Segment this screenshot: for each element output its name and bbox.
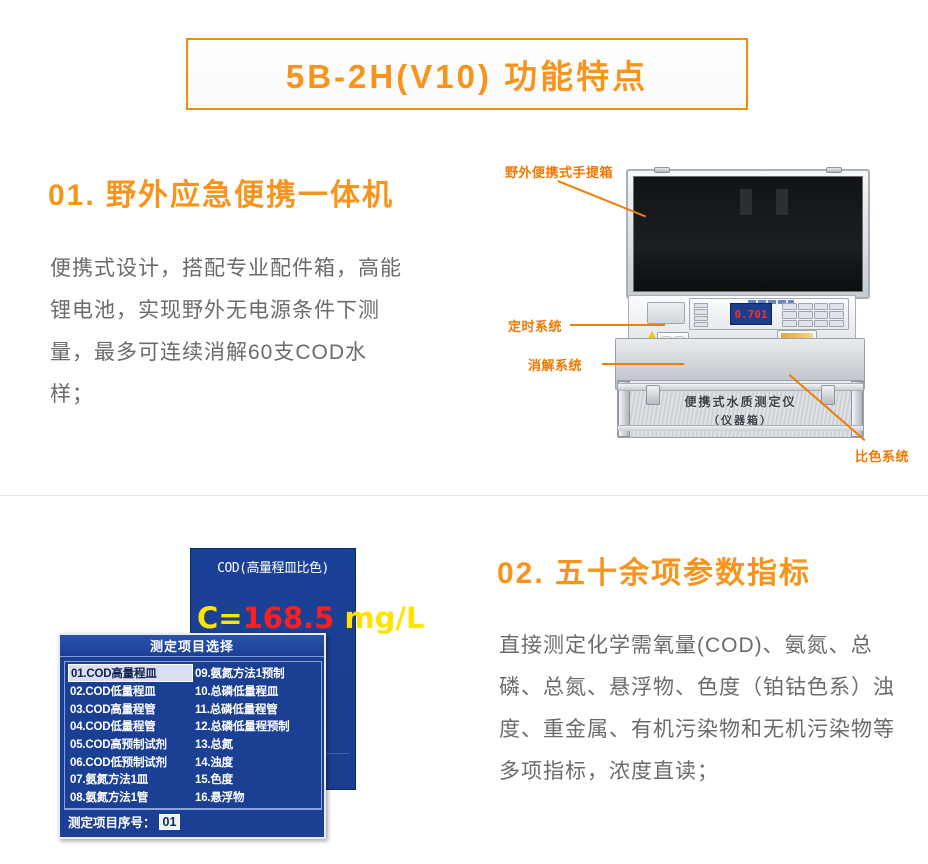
lcd-title: COD(高量程皿比色) [191, 557, 355, 576]
menu-item[interactable]: 11.总磷低量程管 [193, 700, 318, 718]
lid-foam-pad [740, 189, 752, 215]
control-panel: 0.701 [689, 298, 849, 330]
menu-item[interactable]: 13.总氮 [193, 735, 318, 753]
menu-item[interactable]: 07.氨氮方法1皿 [68, 771, 193, 789]
menu-item[interactable]: 12.总磷低量程预制 [193, 717, 318, 735]
dialog-footer: 测定项目序号： 01 [64, 809, 322, 833]
item-number-label: 测定项目序号： [68, 812, 156, 831]
panel-keypad[interactable] [782, 303, 844, 327]
lcd-conc-value: 168.5 [243, 601, 335, 635]
printer-module [647, 302, 685, 324]
menu-item[interactable]: 03.COD高量程管 [68, 700, 193, 718]
callout-portable-case: 野外便携式手提箱 [505, 162, 613, 181]
lid-hinge-left [654, 167, 670, 173]
lid-hinge-right [826, 167, 842, 173]
section-01-body: 便携式设计，搭配专业配件箱，高能锂电池，实现野外无电源条件下测量，最多可连续消解… [50, 248, 410, 416]
lcd-concentration: C=168.5 mg/L [197, 601, 361, 635]
page-title: 5B-2H(V10) 功能特点 [286, 50, 648, 98]
callout-colorimetry-system: 比色系统 [855, 446, 909, 465]
panel-reading: 0.701 [734, 308, 767, 321]
menu-item[interactable]: 14.浊度 [193, 753, 318, 771]
lid-foam-pad [776, 189, 788, 215]
case-label-line1: 便携式水质测定仪 [684, 395, 796, 409]
case-rail-bottom [618, 425, 863, 431]
section-divider [0, 495, 928, 496]
menu-item[interactable]: 06.COD低预制试剂 [68, 753, 193, 771]
lcd-conc-prefix: C= [197, 601, 243, 635]
menu-item[interactable]: 04.COD低量程管 [68, 717, 193, 735]
measurement-item-list[interactable]: 01.COD高量程皿02.COD低量程皿03.COD高量程管04.COD低量程管… [64, 661, 322, 809]
panel-display: 0.701 [730, 303, 772, 325]
menu-item[interactable]: 16.悬浮物 [193, 788, 318, 806]
menu-item[interactable]: 05.COD高预制试剂 [68, 735, 193, 753]
section-01-heading: 01. 野外应急便携一体机 [48, 170, 394, 214]
menu-item[interactable]: 09.氨氮方法1预制 [193, 664, 318, 682]
measurement-item-dialog: 测定项目选择 01.COD高量程皿02.COD低量程皿03.COD高量程管04.… [58, 633, 326, 839]
menu-item[interactable]: 01.COD高量程皿 [68, 664, 193, 682]
panel-function-keys[interactable] [694, 303, 708, 327]
callout-digestion-system: 消解系统 [528, 355, 582, 374]
menu-item[interactable]: 10.总磷低量程皿 [193, 682, 318, 700]
case-label: 便携式水质测定仪 （仪器箱） [618, 393, 863, 428]
item-number-input[interactable]: 01 [159, 814, 181, 830]
product-feature-page: 5B-2H(V10) 功能特点 01. 野外应急便携一体机 便携式设计，搭配专业… [0, 0, 928, 864]
dialog-title: 测定项目选择 [60, 635, 324, 657]
lcd-conc-unit: mg/L [344, 601, 424, 635]
menu-item[interactable]: 15.色度 [193, 771, 318, 789]
menu-item[interactable]: 02.COD低量程皿 [68, 682, 193, 700]
leader-line-timer-system [570, 324, 665, 326]
instrument-photo: 0.701 便携式水质测定仪 （仪器箱） [500, 155, 928, 485]
section-02-body: 直接测定化学需氧量(COD)、氨氮、总磷、总氮、悬浮物、色度（铂钴色系）浊度、重… [499, 625, 914, 793]
callout-timer-system: 定时系统 [508, 316, 562, 335]
leader-line-digestion-system [602, 363, 684, 365]
page-title-box: 5B-2H(V10) 功能特点 [186, 38, 748, 110]
case-lid [626, 169, 870, 299]
section-02-heading: 02. 五十余项参数指标 [497, 548, 811, 592]
menu-item[interactable]: 08.氨氮方法1管 [68, 788, 193, 806]
